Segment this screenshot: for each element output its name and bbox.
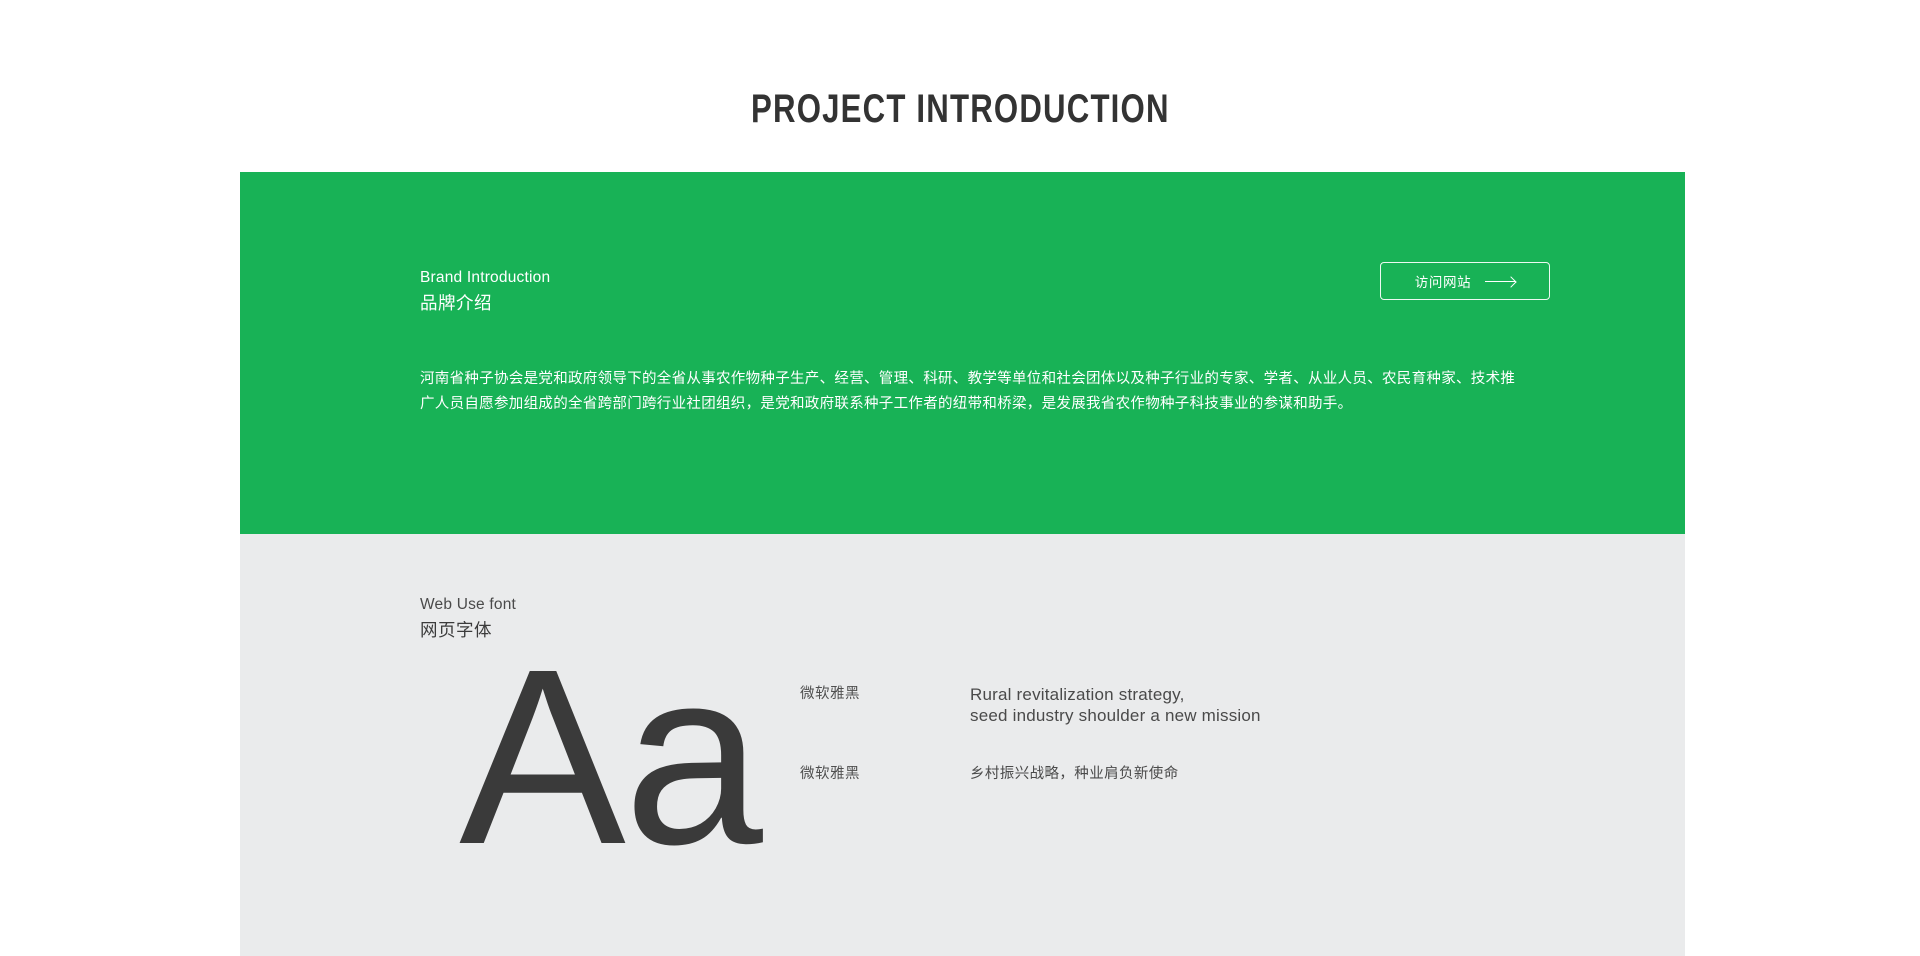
visit-website-button[interactable]: 访问网站	[1380, 262, 1550, 300]
brand-introduction-section: Brand Introduction 品牌介绍 访问网站 河南省种子协会是党和政…	[240, 172, 1685, 534]
visit-website-label: 访问网站	[1415, 271, 1471, 291]
brand-heading-group: Brand Introduction 品牌介绍	[420, 267, 550, 317]
list-item: 微软雅黑 Rural revitalization strategy, seed…	[800, 684, 1550, 726]
font-sample-text: Rural revitalization strategy, seed indu…	[970, 684, 1261, 726]
page-title-container: PROJECT INTRODUCTION	[0, 0, 1920, 156]
font-section-inner: Web Use font 网页字体 Aa 微软雅黑 Rural revitali…	[420, 534, 1550, 956]
font-eyebrow-en: Web Use font	[420, 594, 516, 616]
brand-eyebrow-cn: 品牌介绍	[420, 291, 550, 316]
font-sample-text: 乡村振兴战略，种业肩负新使命	[970, 764, 1179, 785]
font-showcase: Aa 微软雅黑 Rural revitalization strategy, s…	[420, 649, 1550, 864]
font-sample-name: 微软雅黑	[800, 684, 970, 705]
page-title: PROJECT INTRODUCTION	[751, 89, 1170, 129]
brand-section-inner: Brand Introduction 品牌介绍 访问网站 河南省种子协会是党和政…	[420, 172, 1550, 534]
web-font-section: Web Use font 网页字体 Aa 微软雅黑 Rural revitali…	[240, 534, 1685, 956]
brand-eyebrow-en: Brand Introduction	[420, 267, 550, 289]
font-glyph-sample: Aa	[420, 649, 800, 864]
brand-description-text: 河南省种子协会是党和政府领导下的全省从事农作物种子生产、经营、管理、科研、教学等…	[420, 367, 1520, 417]
font-sample-list: 微软雅黑 Rural revitalization strategy, seed…	[800, 649, 1550, 823]
list-item: 微软雅黑 乡村振兴战略，种业肩负新使命	[800, 764, 1550, 785]
long-arrow-right-icon	[1485, 281, 1515, 282]
font-sample-name: 微软雅黑	[800, 764, 970, 785]
